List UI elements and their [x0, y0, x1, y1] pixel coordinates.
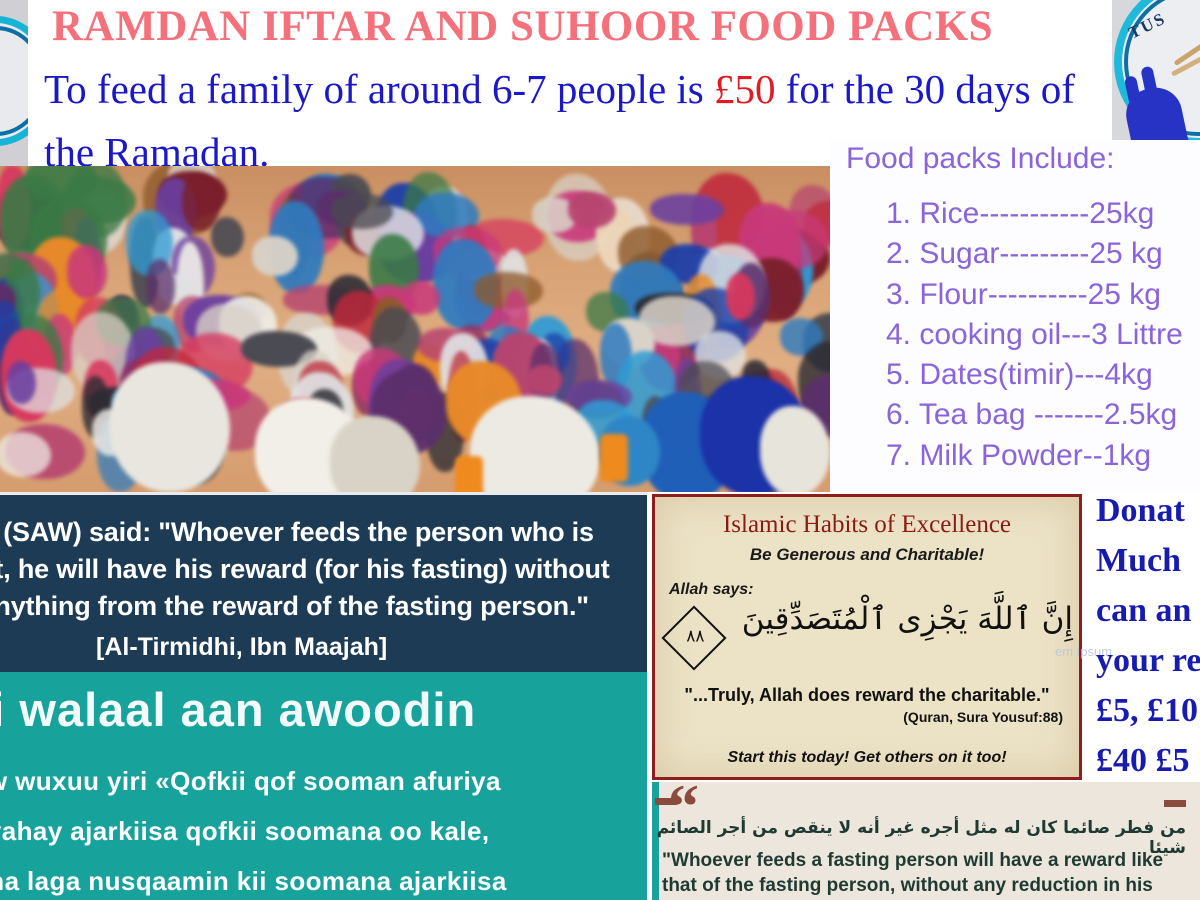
charity-logo-left-icon [0, 0, 28, 168]
photo-figure [527, 365, 562, 395]
photo-figure [402, 281, 439, 315]
allah-says-label: Allah says: [669, 581, 753, 599]
jerrycan-icon [600, 434, 628, 482]
quote-dash-right-icon [1164, 800, 1186, 807]
somali-headline: ri walaal aan awoodin [0, 682, 476, 737]
aid-distribution-photo [0, 166, 830, 492]
quote-english-line-2: the fasting person, without any reductio… [662, 875, 1153, 900]
photo-figure [0, 432, 51, 476]
donate-line: Donat [1096, 486, 1200, 536]
donate-line: £40 £5 [1096, 736, 1200, 786]
page-title: RAMDAN IFTAR AND SUHOOR FOOD PACKS [52, 2, 1132, 51]
photo-figure-foreground [110, 362, 230, 492]
ayah-number: ٨٨ [674, 627, 716, 647]
photo-figure-foreground [760, 406, 830, 492]
price-amount: £50 [714, 66, 776, 112]
donate-line: can an [1096, 586, 1200, 636]
somali-teal-panel: ri walaal aan awoodin sw wuxuu yiri «Qof… [0, 672, 647, 900]
donate-line: Much [1096, 536, 1200, 586]
donate-text-column: DonatMuchcan anyour re£5, £10£40 £5 [1096, 486, 1200, 786]
hadith-line-1: het (SAW) said: "Whoever feeds the perso… [0, 517, 594, 548]
somali-line-3: ona laga nusqaamin kii soomana ajarkiisa [0, 866, 507, 897]
hadith-quote-panel: “ من فطر صائما كان له مثل أجره غير أنه ل… [652, 782, 1200, 900]
food-packs-panel: Food packs Include: 1. Rice-----------25… [830, 140, 1200, 492]
food-pack-item: 2. Sugar---------25 kg [886, 234, 1200, 274]
donate-line: your re [1096, 636, 1200, 686]
photo-figure [331, 193, 393, 229]
photo-figure [252, 236, 298, 277]
photo-figure [568, 192, 616, 228]
ayah-reference: (Quran, Sura Yousuf:88) [655, 709, 1063, 725]
call-to-action-text: Start this today! Get others on it too! [655, 749, 1079, 767]
donate-line: £5, £10 [1096, 686, 1200, 736]
photo-figure [7, 361, 36, 403]
photo-figure [211, 217, 244, 257]
hadith-source: [Al-Tirmidhi, Ibn Maajah] [96, 633, 387, 662]
food-pack-item: 4. cooking oil---3 Littre [886, 315, 1200, 355]
food-packs-title: Food packs Include: [846, 142, 1115, 176]
be-generous-text: Be Generous and Charitable! [655, 545, 1079, 565]
food-pack-item: 1. Rice-----------25kg [886, 194, 1200, 234]
hadith-line-3: g anything from the reward of the fastin… [0, 591, 589, 622]
hadith-line-2: fast, he will have his reward (for his f… [0, 554, 610, 585]
logo-ring-inner [0, 26, 28, 136]
islamic-habits-title: Islamic Habits of Excellence [655, 511, 1079, 539]
food-pack-item: 5. Dates(timir)---4kg [886, 355, 1200, 395]
somali-line-2: eyahay ajarkiisa qofkii soomana oo kale, [0, 816, 489, 847]
quote-english: "Whoever feeds a fasting person will hav… [662, 848, 1190, 900]
food-packs-list: 1. Rice-----------25kg2. Sugar---------2… [846, 194, 1200, 476]
photo-figure [650, 194, 725, 225]
photo-figure [67, 245, 107, 299]
food-pack-item: 6. Tea bag -------2.5kg [886, 395, 1200, 435]
ayah-translation: "...Truly, Allah does reward the charita… [655, 685, 1079, 706]
food-pack-item: 7. Milk Powder--1kg [886, 436, 1200, 476]
somali-line-1: sw wuxuu yiri «Qofkii qof sooman afuriya [0, 766, 501, 797]
slide-canvas: RAMDAN IFTAR AND SUHOOR FOOD PACKS To fe… [0, 0, 1200, 900]
hadith-navy-panel: het (SAW) said: "Whoever feeds the perso… [0, 492, 647, 683]
islamic-habits-panel: Islamic Habits of Excellence Be Generous… [652, 494, 1082, 780]
jerrycan-icon [455, 456, 483, 492]
food-pack-item: 3. Flour----------25 kg [886, 275, 1200, 315]
subtitle-text-1: To feed a family of around 6-7 people is [44, 66, 714, 112]
